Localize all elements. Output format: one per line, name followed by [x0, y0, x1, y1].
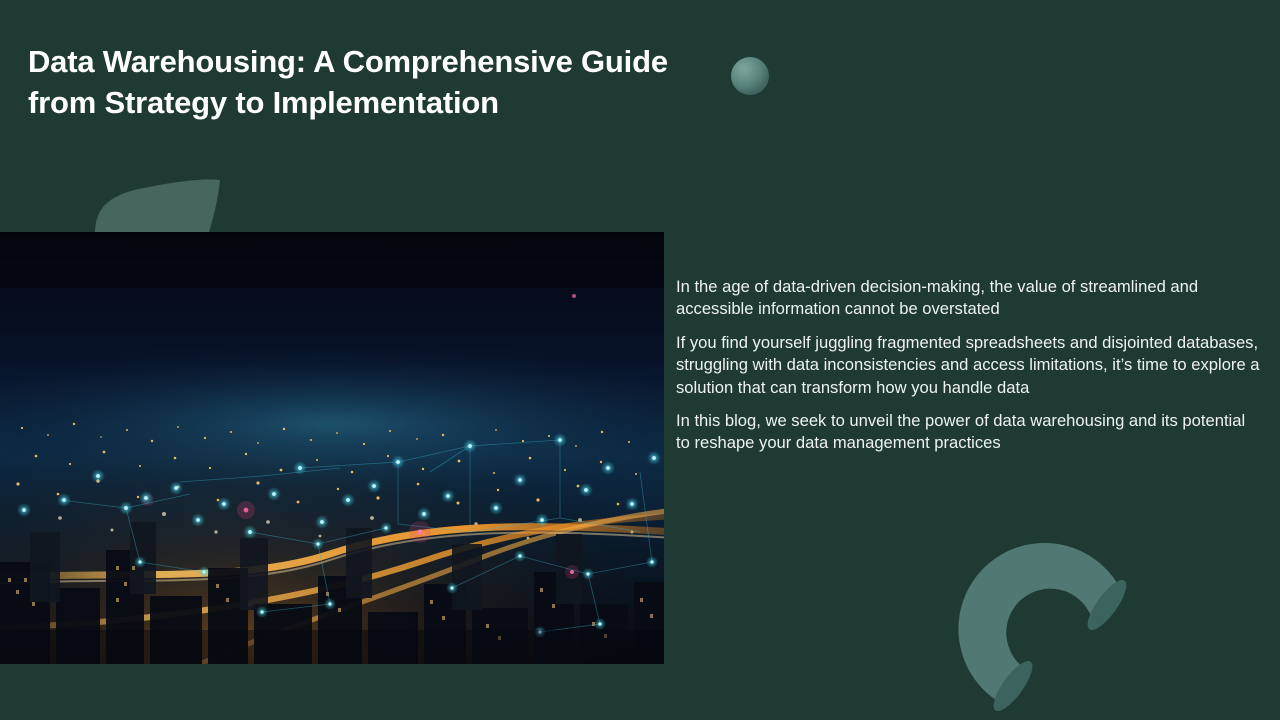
sphere-decoration-icon — [731, 57, 769, 95]
body-copy: In the age of data-driven decision-makin… — [676, 276, 1262, 455]
body-paragraph-1: In the age of data-driven decision-makin… — [676, 276, 1262, 321]
city-network-illustration — [0, 232, 664, 664]
hero-image — [0, 232, 664, 664]
body-paragraph-3: In this blog, we seek to unveil the powe… — [676, 410, 1262, 455]
torus-arc-svg — [955, 520, 1141, 720]
body-paragraph-2: If you find yourself juggling fragmented… — [676, 332, 1262, 399]
page-title: Data Warehousing: A Comprehensive Guide … — [28, 42, 708, 124]
torus-arc-decoration-icon — [955, 520, 1141, 720]
slide-canvas: Data Warehousing: A Comprehensive Guide … — [0, 0, 1280, 720]
